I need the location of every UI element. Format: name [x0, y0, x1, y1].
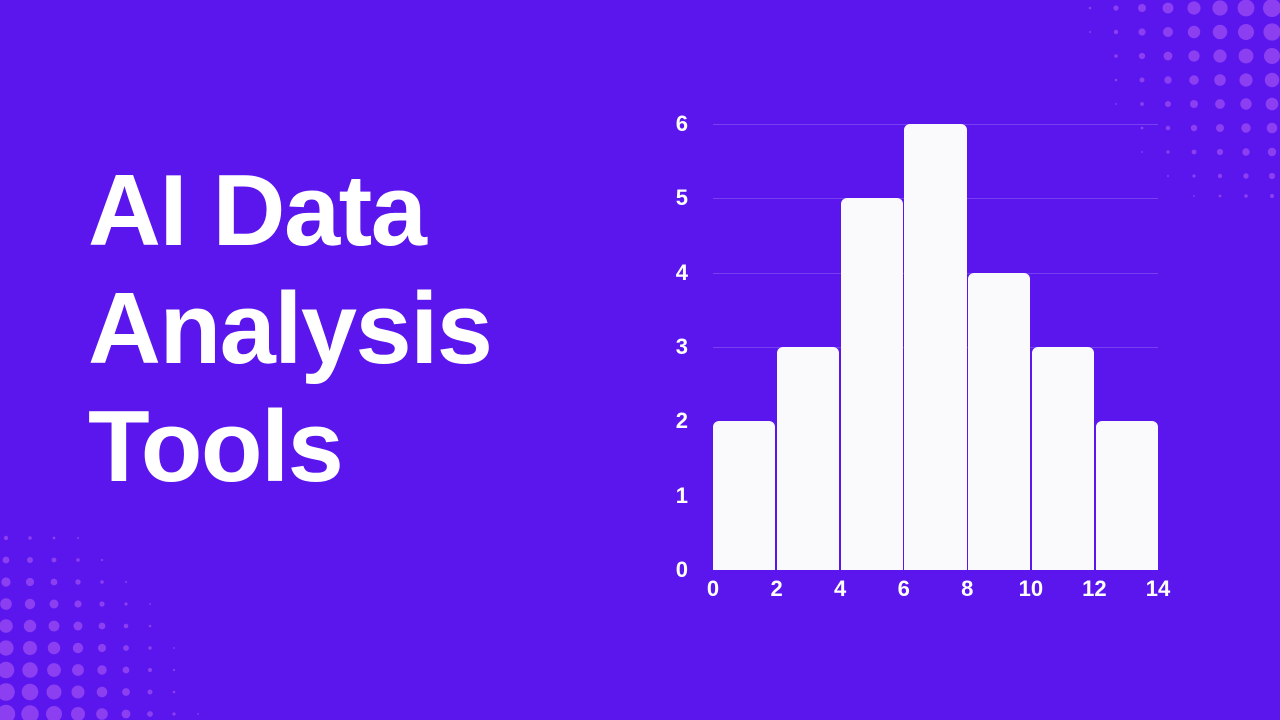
x-axis-tick-label: 10: [1019, 578, 1043, 600]
bar: [968, 273, 1030, 570]
y-axis-tick-label: 6: [676, 113, 688, 135]
halftone-dots-icon-bottom-left: [0, 530, 210, 720]
x-axis-tick-label: 4: [834, 578, 846, 600]
page-title: AI Data Analysis Tools: [88, 152, 628, 506]
y-axis-tick-label: 3: [676, 336, 688, 358]
y-axis-tick-label: 1: [676, 485, 688, 507]
page-title-line-2: Analysis: [88, 270, 628, 388]
x-axis-tick-label: 6: [898, 578, 910, 600]
y-axis-tick-labels: 0123456: [660, 124, 707, 570]
bar-series: [713, 124, 1158, 570]
x-axis-tick-label: 0: [707, 578, 719, 600]
y-axis-tick-label: 2: [676, 410, 688, 432]
y-axis-tick-label: 4: [676, 262, 688, 284]
y-axis-tick-label: 5: [676, 187, 688, 209]
bar: [777, 347, 839, 570]
histogram-chart: 0123456 02468101214: [660, 100, 1200, 620]
bar: [904, 124, 966, 570]
x-axis-tick-label: 8: [961, 578, 973, 600]
bar: [1032, 347, 1094, 570]
bar: [841, 198, 903, 570]
bar: [1096, 421, 1158, 570]
y-axis-tick-label: 0: [676, 559, 688, 581]
bar: [713, 421, 775, 570]
x-axis-tick-label: 14: [1146, 578, 1170, 600]
x-axis-tick-labels: 02468101214: [713, 578, 1158, 610]
x-axis-tick-label: 12: [1082, 578, 1106, 600]
x-axis-tick-label: 2: [770, 578, 782, 600]
plot-area: [713, 124, 1158, 570]
page-title-line-1: AI Data: [88, 152, 628, 270]
page-title-line-3: Tools: [88, 388, 628, 506]
